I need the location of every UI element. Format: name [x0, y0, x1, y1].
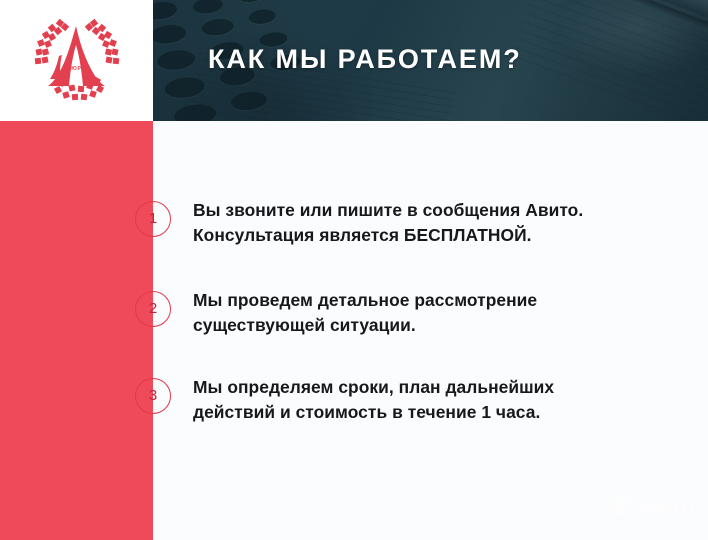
step-text: Мы проведем детальное рассмотрение сущес…: [193, 288, 537, 338]
step-number-badge: 2: [135, 291, 171, 327]
step-text: Вы звоните или пишите в сообщения Авито.…: [193, 198, 583, 248]
logo-plate: БЮРО: [0, 0, 153, 121]
page-title: КАК МЫ РАБОТАЕМ?: [208, 44, 522, 75]
step-text-line-2: Консультация является БЕСПЛАТНОЙ.: [193, 223, 583, 248]
slide-canvas: КАК МЫ РАБОТАЕМ?: [0, 0, 708, 540]
step-text-line-2: существующей ситуации.: [193, 313, 537, 338]
list-item: 2 Мы проведем детальное рассмотрение сущ…: [135, 288, 695, 338]
step-text-line-1: Мы проведем детальное рассмотрение: [193, 290, 537, 310]
avito-watermark: Avito: [614, 496, 694, 516]
step-number-badge: 1: [135, 201, 171, 237]
logo-wordmark: БЮРО: [29, 66, 125, 72]
list-item: 1 Вы звоните или пишите в сообщения Авит…: [135, 198, 695, 248]
list-item: 3 Мы определяем сроки, план дальнейших д…: [135, 375, 695, 425]
step-number-badge: 3: [135, 378, 171, 414]
step-text-line-1: Вы звоните или пишите в сообщения Авито.: [193, 200, 583, 220]
avito-wordmark: Avito: [639, 496, 694, 516]
header-band: КАК МЫ РАБОТАЕМ?: [153, 0, 708, 121]
step-text-line-2: действий и стоимость в течение 1 часа.: [193, 400, 554, 425]
red-accent-column: [0, 121, 153, 540]
byuro-a-emblem-icon: [29, 13, 125, 109]
step-text: Мы определяем сроки, план дальнейших дей…: [193, 375, 554, 425]
step-text-line-1: Мы определяем сроки, план дальнейших: [193, 377, 554, 397]
avito-dots-icon: [614, 496, 636, 516]
company-logo: БЮРО: [29, 13, 125, 109]
